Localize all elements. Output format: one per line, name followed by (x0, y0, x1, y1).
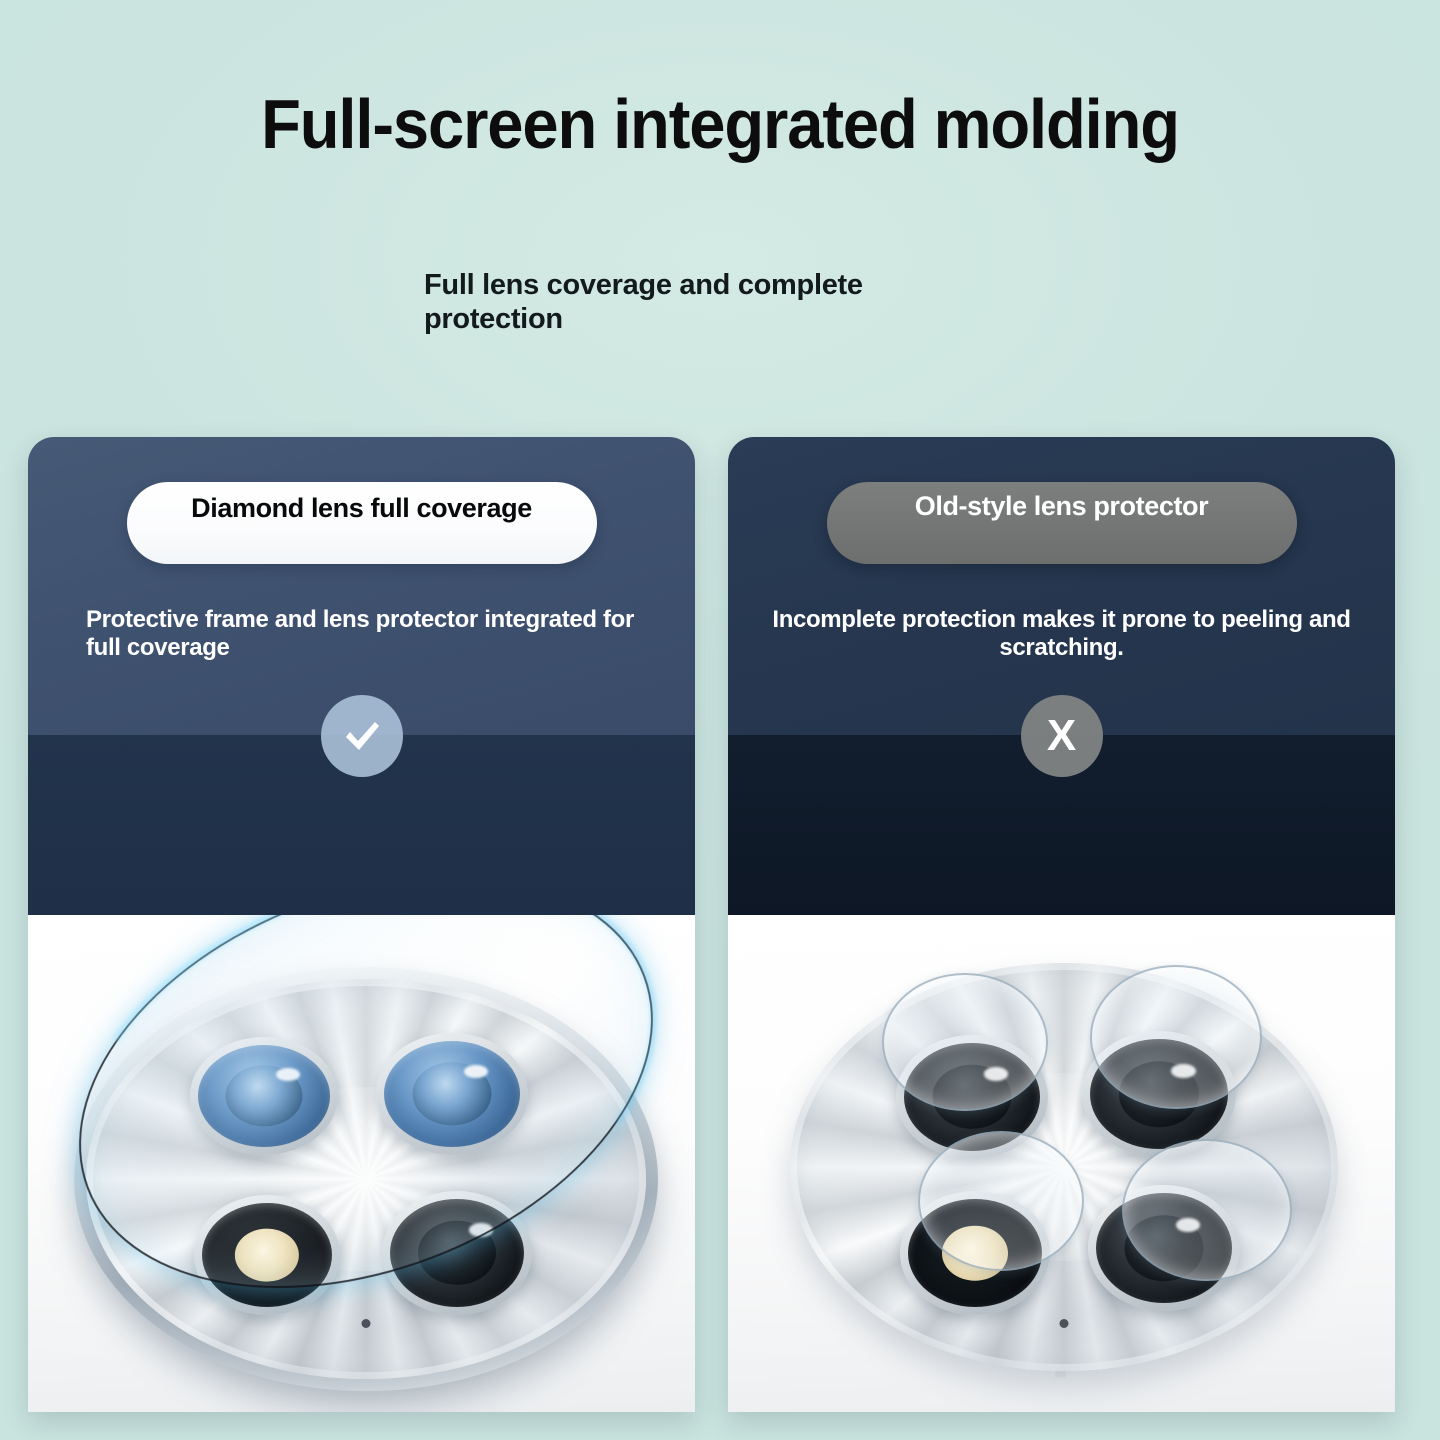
comparison-cards: Diamond lens full coverage Protective fr… (28, 437, 1412, 1412)
lens-protector-glass-4 (1122, 1139, 1292, 1281)
camera-module-photo-good: 华 (28, 915, 695, 1412)
camera-module-photo-bad: 华 (728, 915, 1395, 1412)
check-icon (321, 695, 403, 777)
card-description-bad: Incomplete protection makes it prone to … (728, 606, 1395, 662)
lens-protector-glass-1 (882, 973, 1048, 1111)
card-pill-good: Diamond lens full coverage (127, 482, 597, 564)
card-description-good: Protective frame and lens protector inte… (28, 606, 695, 662)
camera-module-bad (790, 963, 1338, 1371)
card-pill-label: Diamond lens full coverage (191, 493, 532, 523)
lens-protector-glass-3 (918, 1131, 1084, 1271)
lens-protector-glass-2 (1090, 965, 1262, 1109)
page-title: Full-screen integrated molding (50, 88, 1389, 162)
comparison-card-good: Diamond lens full coverage Protective fr… (28, 437, 695, 1412)
microphone-hole (362, 1319, 371, 1328)
page-subtitle: Full lens coverage and complete protecti… (424, 268, 964, 336)
card-pill-bad: Old-style lens protector (827, 482, 1297, 564)
camera-module-good (86, 979, 646, 1379)
cross-icon: X (1021, 695, 1103, 777)
cross-glyph: X (1047, 714, 1076, 758)
card-pill-label: Old-style lens protector (915, 491, 1208, 521)
comparison-card-bad: Old-style lens protector Incomplete prot… (728, 437, 1395, 1412)
microphone-hole (1060, 1319, 1069, 1328)
